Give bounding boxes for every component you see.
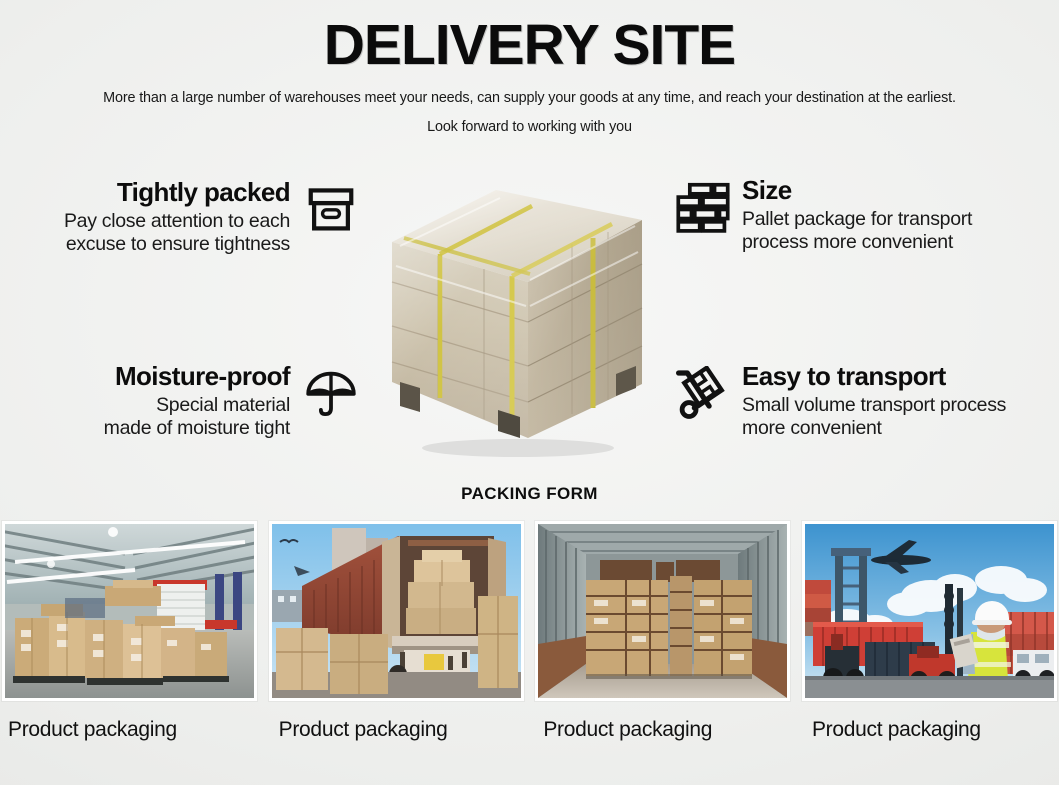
feature-body-line-2: process more convenient — [742, 231, 1058, 254]
gallery-item[interactable]: Product packaging — [2, 521, 257, 771]
feature-body-line-2: made of moisture tight — [0, 417, 290, 440]
hand-truck-icon — [672, 362, 734, 424]
page-title: DELIVERY SITE — [0, 0, 1059, 76]
port-logistics-photo — [805, 524, 1054, 698]
gallery-item[interactable]: Product packaging — [269, 521, 524, 771]
feature-text-block: Tightly packed Pay close attention to ea… — [0, 178, 300, 256]
feature-body-line-1: Pay close attention to each — [0, 210, 290, 233]
brick-wall-icon — [672, 176, 734, 238]
feature-body-line-1: Special material — [0, 394, 290, 417]
thumbnail-frame[interactable] — [2, 521, 257, 701]
feature-moisture-proof: Moisture-proof Special material made of … — [0, 362, 362, 440]
feature-heading: Moisture-proof — [0, 362, 290, 390]
header-subtitle-line-2: Look forward to working with you — [0, 119, 1059, 136]
feature-easy-to-transport: Easy to transport Small volume transport… — [672, 362, 1058, 440]
thumbnail-frame[interactable] — [269, 521, 524, 701]
packing-form-gallery: Product packaging — [0, 521, 1059, 771]
feature-body-line-1: Small volume transport process — [742, 394, 1058, 417]
feature-text-block: Moisture-proof Special material made of … — [0, 362, 300, 440]
gallery-item[interactable]: Product packaging — [802, 521, 1057, 771]
feature-size: Size Pallet package for transport proces… — [672, 176, 1058, 254]
container-loading-photo — [272, 524, 521, 698]
feature-body-line-1: Pallet package for transport — [742, 208, 1058, 231]
feature-heading: Easy to transport — [742, 362, 1058, 390]
gallery-caption: Product packaging — [269, 718, 524, 742]
thumbnail-frame[interactable] — [535, 521, 790, 701]
warehouse-photo — [5, 524, 254, 698]
wrapped-pallet-photo — [380, 176, 650, 458]
packing-form-label: PACKING FORM — [0, 484, 1059, 504]
feature-body-line-2: more convenient — [742, 417, 1058, 440]
feature-heading: Size — [742, 176, 1058, 204]
feature-text-block: Size Pallet package for transport proces… — [734, 176, 1058, 254]
delivery-site-banner: DELIVERY SITE More than a large number o… — [0, 0, 1059, 785]
umbrella-icon — [300, 362, 362, 424]
container-interior-photo — [538, 524, 787, 698]
feature-heading: Tightly packed — [0, 178, 290, 206]
feature-tightly-packed: Tightly packed Pay close attention to ea… — [0, 178, 362, 256]
thumbnail-frame[interactable] — [802, 521, 1057, 701]
gallery-caption: Product packaging — [2, 718, 257, 742]
feature-body-line-2: excuse to ensure tightness — [0, 233, 290, 256]
gallery-caption: Product packaging — [535, 718, 790, 742]
header: DELIVERY SITE More than a large number o… — [0, 0, 1059, 136]
gallery-item[interactable]: Product packaging — [535, 521, 790, 771]
feature-text-block: Easy to transport Small volume transport… — [734, 362, 1058, 440]
archive-box-icon — [300, 178, 362, 240]
header-subtitle-line-1: More than a large number of warehouses m… — [0, 90, 1059, 107]
gallery-caption: Product packaging — [802, 718, 1057, 742]
